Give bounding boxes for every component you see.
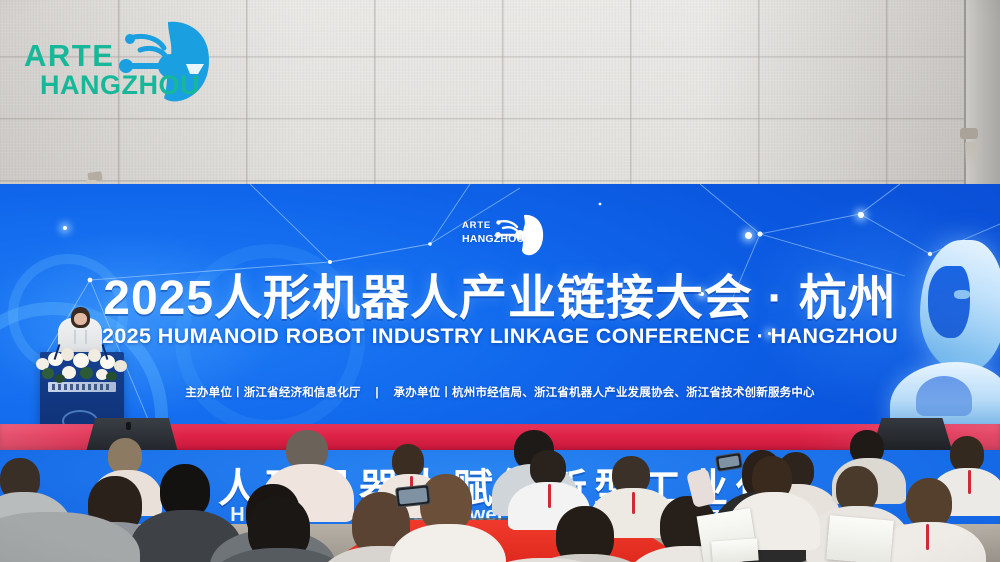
organizer-separator: | xyxy=(364,387,390,399)
podium-name-plate xyxy=(48,382,116,392)
organizer-line: 主办单位丨浙江省经济和信息化厅 | 承办单位丨杭州市经信局、浙江省机器人产业发展… xyxy=(0,384,1000,400)
ceiling-fixture-right-icon xyxy=(960,128,978,139)
co-organizer-label: 承办单位丨杭州市经信局、浙江省机器人产业发展协会、浙江省技术创新服务中心 xyxy=(394,387,815,399)
backdrop-center-logo: ARTE HANGZHOU xyxy=(462,212,562,256)
glow-dot xyxy=(858,212,864,218)
smartphone xyxy=(715,452,743,472)
conference-title-en: 2025 HUMANOID ROBOT INDUSTRY LINKAGE CON… xyxy=(0,324,1000,349)
program-booklet xyxy=(711,538,758,562)
glow-dot xyxy=(63,226,67,230)
wall-logo-line1: ARTE xyxy=(24,38,114,74)
wall-logo-line2: HANGZHOU xyxy=(40,70,200,101)
glow-dot xyxy=(745,232,752,239)
venue-wall-logo: ARTE HANGZHOU xyxy=(18,14,228,106)
speaker-face xyxy=(74,313,87,325)
organizer-label: 主办单位丨浙江省经济和信息化厅 xyxy=(185,387,361,399)
program-booklet xyxy=(826,515,894,562)
audience-rows xyxy=(0,430,1000,562)
podium-flower-arrangement xyxy=(32,346,136,382)
ceiling-fixture-right-stem xyxy=(965,142,977,164)
conference-title-cn: 2025人形机器人产业链接大会 · 杭州 xyxy=(0,258,1000,328)
smartphone xyxy=(395,484,431,507)
conference-photo: ARTE HANGZHOU xyxy=(0,0,1000,562)
speaker-lanyard xyxy=(74,330,87,344)
center-logo-line1: ARTE xyxy=(462,221,491,231)
center-logo-line2: HANGZHOU xyxy=(462,234,524,245)
